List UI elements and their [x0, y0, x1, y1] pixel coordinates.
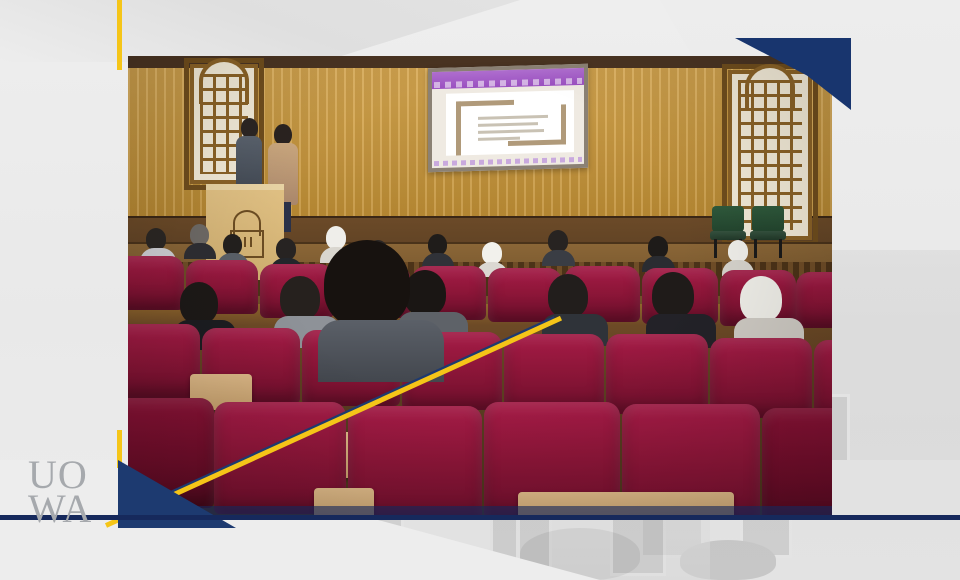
audience-head [652, 272, 694, 318]
audience-member [652, 272, 696, 342]
audience-head [280, 276, 320, 320]
audience-shoulders [542, 250, 575, 266]
audience-member [428, 234, 450, 266]
audience-head [482, 242, 502, 264]
audience-shoulders [184, 243, 216, 259]
audience-shoulders [318, 320, 444, 382]
audience-seating [128, 220, 832, 520]
auditorium-seat [762, 408, 832, 520]
slide-corner-bracket [456, 101, 461, 155]
audience-member [548, 230, 570, 262]
audience-head [146, 228, 166, 250]
auditorium-seat [128, 256, 184, 310]
slide-corner-bracket [561, 104, 566, 144]
logo-line-2: WA [28, 492, 114, 526]
presenter-head [274, 124, 292, 145]
slide-corner-bracket [456, 100, 514, 107]
presentation-app-ribbon [432, 68, 584, 89]
uowa-logo: UO WA [28, 458, 114, 526]
audience-head [548, 230, 568, 252]
auditorium-seat [796, 272, 832, 328]
audience-member-foreground [324, 240, 412, 370]
slide-text-lines [478, 115, 548, 145]
audience-head [548, 274, 588, 318]
audience-head [728, 240, 748, 262]
accent-rule-top-left [117, 0, 122, 70]
audience-member [740, 276, 784, 346]
audience-head [276, 238, 296, 260]
audience-member [548, 274, 590, 342]
audience-member [648, 236, 670, 268]
event-photo [128, 56, 832, 520]
audience-head [190, 224, 209, 245]
audience-head [324, 240, 410, 328]
auditorium-seat [606, 334, 708, 414]
presentation-app-statusbar [434, 157, 582, 166]
auditorium-seat [504, 334, 604, 412]
audience-head [428, 234, 447, 255]
audience-member [728, 240, 750, 272]
slide-page [446, 90, 574, 156]
presenter-head [241, 118, 258, 138]
audience-member [190, 224, 212, 256]
banner-canvas: UO WA [0, 0, 960, 580]
projection-screen [428, 64, 588, 172]
audience-head [180, 282, 218, 324]
audience-head [223, 234, 242, 255]
audience-head [740, 276, 782, 322]
baseline-navy-rule [0, 515, 960, 520]
audience-head [648, 236, 668, 258]
